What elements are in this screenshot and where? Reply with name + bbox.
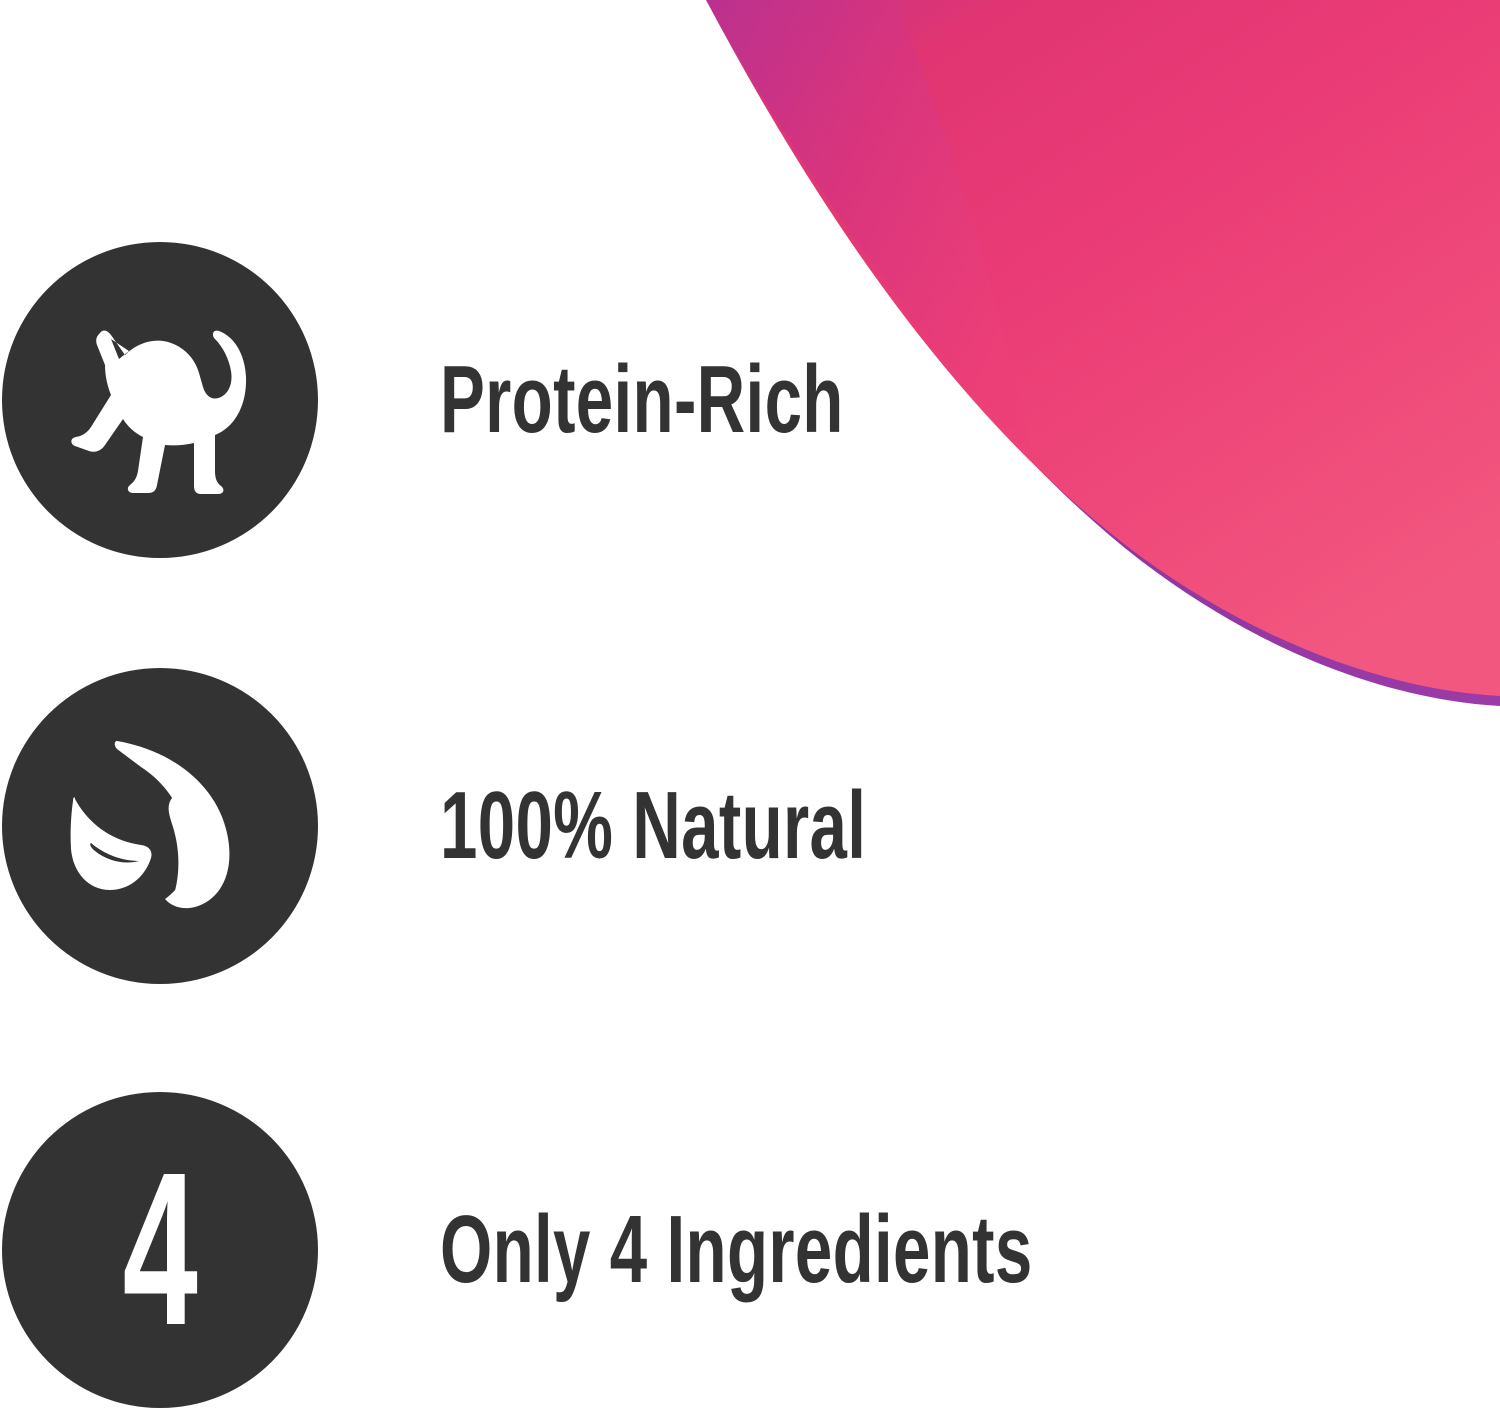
feature-label-ingredients: Only 4 Ingredients bbox=[440, 1202, 1033, 1298]
number-four-icon: 4 bbox=[123, 1141, 197, 1359]
feature-badge-natural bbox=[2, 668, 318, 984]
feature-row: 4 Only 4 Ingredients bbox=[0, 1092, 1300, 1408]
feature-label-natural: 100% Natural bbox=[440, 778, 866, 874]
feature-row: Protein-Rich bbox=[0, 242, 1300, 558]
feature-badge-protein bbox=[2, 242, 318, 558]
cat-icon bbox=[45, 285, 275, 515]
feature-badge-ingredients: 4 bbox=[2, 1092, 318, 1408]
feature-callout-panel: Protein-Rich 100% Natural 4 Only 4 Ingre… bbox=[0, 0, 1500, 1412]
feature-row: 100% Natural bbox=[0, 668, 1300, 984]
feature-label-protein: Protein-Rich bbox=[440, 352, 844, 448]
leaf-icon bbox=[45, 711, 275, 941]
